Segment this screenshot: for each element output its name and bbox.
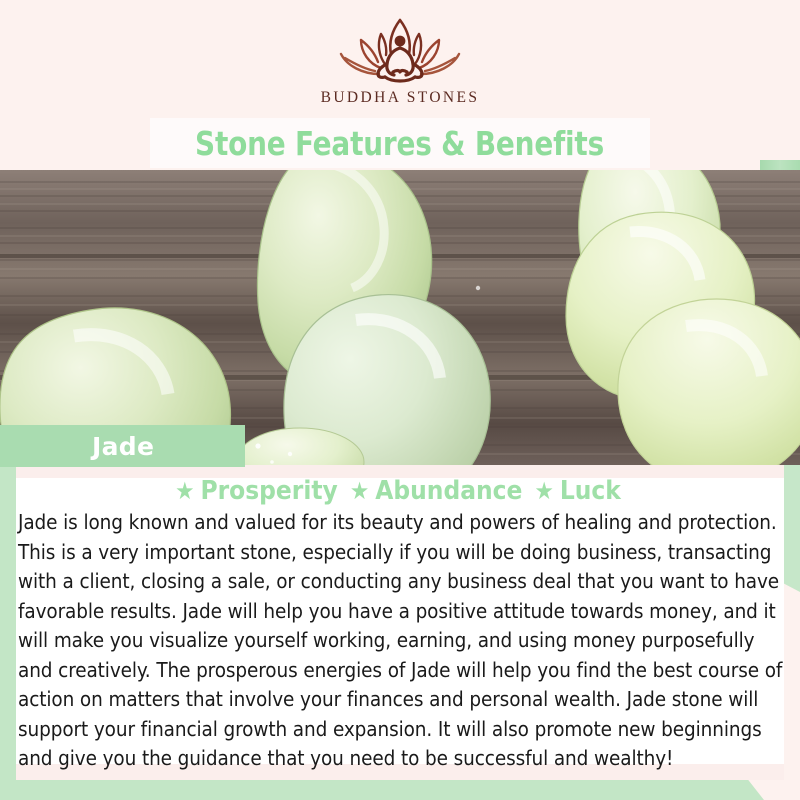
stone-photo xyxy=(0,170,800,465)
page-title: Stone Features & Benefits xyxy=(196,124,605,163)
page-title-banner: Stone Features & Benefits xyxy=(150,118,650,168)
keyword-abundance: Abundance xyxy=(375,476,522,506)
jade-stones-illustration xyxy=(0,170,800,465)
stone-name-badge: Jade xyxy=(0,425,245,467)
lotus-meditation-icon xyxy=(325,14,475,86)
description-text-block: Jade is long known and valued for its be… xyxy=(18,508,788,774)
stone-name-label: Jade xyxy=(92,432,154,461)
star-icon: ★ xyxy=(350,477,369,505)
keyword-list: ★Prosperity ★Abundance ★Luck xyxy=(0,476,800,506)
keyword-prosperity: Prosperity xyxy=(201,476,338,506)
stone-info-poster: BUDDHA STONES Stone Features & Benefits xyxy=(0,0,800,800)
brand-name: BUDDHA STONES xyxy=(321,89,480,107)
star-icon: ★ xyxy=(175,477,194,505)
description-paragraph: Jade is long known and valued for its be… xyxy=(18,508,788,774)
star-icon: ★ xyxy=(535,477,554,505)
brand-logo: BUDDHA STONES xyxy=(0,14,800,114)
keyword-luck: Luck xyxy=(560,476,621,506)
